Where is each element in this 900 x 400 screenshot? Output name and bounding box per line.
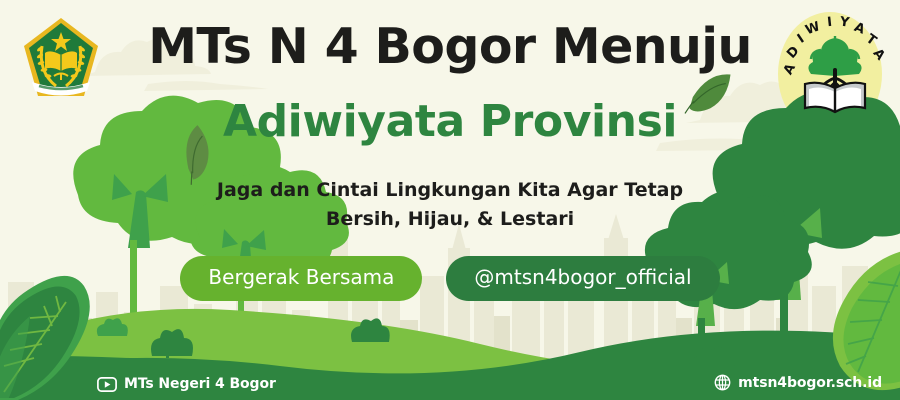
adiwiyata-banner: A D I W I Y A T A (0, 0, 900, 400)
svg-text:D: D (784, 43, 803, 61)
globe-icon (714, 374, 731, 391)
svg-text:T: T (863, 31, 879, 48)
svg-text:A: A (852, 20, 867, 38)
adiwiyata-book-icon (805, 83, 865, 112)
svg-text:I: I (795, 32, 807, 47)
play-button-icon (97, 377, 117, 392)
svg-text:A: A (781, 61, 799, 77)
youtube-channel-link[interactable]: MTs Negeri 4 Bogor (97, 376, 276, 392)
adiwiyata-logo: A D I W I Y A T A (0, 0, 900, 400)
youtube-channel-label: MTs Negeri 4 Bogor (124, 376, 276, 392)
svg-text:W: W (803, 19, 822, 38)
svg-text:I: I (826, 15, 832, 30)
svg-text:A: A (870, 46, 888, 63)
website-link[interactable]: mtsn4bogor.sch.id (714, 374, 882, 391)
svg-text:Y: Y (838, 14, 851, 30)
website-label: mtsn4bogor.sch.id (738, 375, 882, 391)
